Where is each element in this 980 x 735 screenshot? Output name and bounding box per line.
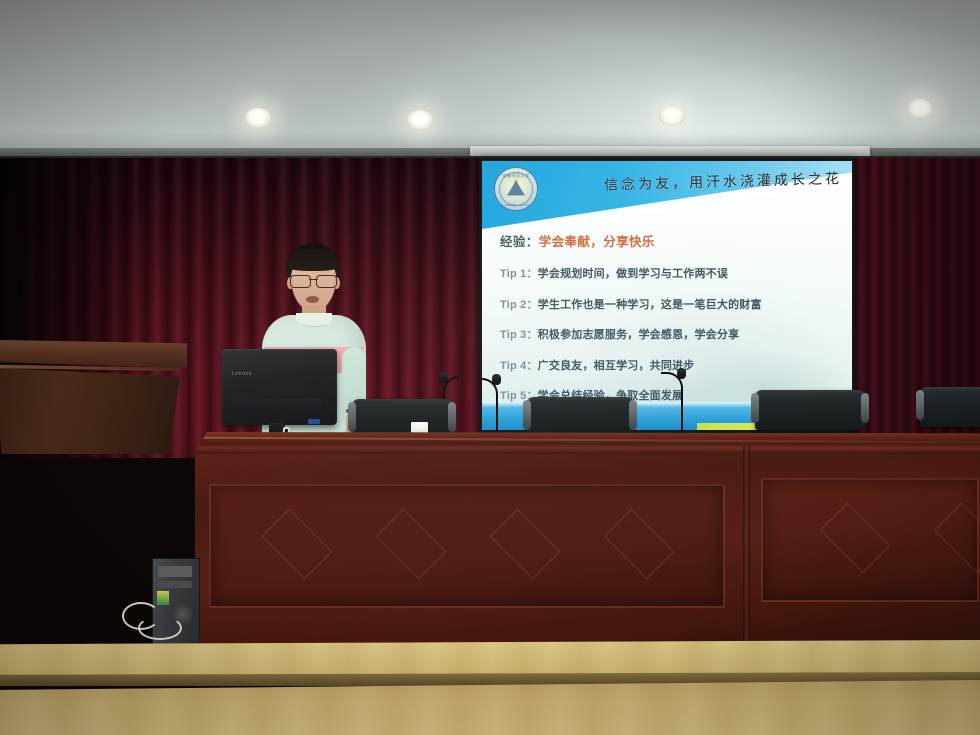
table-diamond-carving [820,503,890,573]
recessed-downlight [659,106,685,126]
table-panel [209,484,725,608]
table-diamond-carving [490,509,560,579]
conference-table [195,432,980,660]
recessed-downlight [245,108,271,128]
conference-chair[interactable] [755,390,865,430]
conference-chair[interactable] [527,397,633,437]
chair-arm-left [348,402,356,432]
slide-tip-4-label: Tip 4： [500,360,538,372]
slide-tip-2-label: Tip 2： [500,299,538,311]
recessed-downlight [407,110,433,130]
slide-tip-3-label: Tip 3： [500,329,538,341]
glasses-lens-right [316,275,337,288]
slide-tip-3-text: 积极参加志愿服务，学会感恩，学会分享 [538,329,740,341]
monitor-brand-label: Lenovo [232,371,252,377]
slide-tip-1: Tip 1：学会规划时间，做到学习与工作两不误 [500,265,840,281]
lecture-hall-scene: 安徽师范大学 ANHUI NORMAL UNIVERSITY 信念为友，用汗水浇… [0,0,980,735]
glasses-icon [290,275,337,287]
power-cable [138,616,182,640]
table-section-split [743,446,750,650]
chair-arm-right [448,402,456,432]
slide-experience-value: 学会奉献，分享快乐 [539,235,655,249]
slide-tip-2: Tip 2：学生工作也是一种学习，这是一笔巨大的财富 [500,296,840,312]
table-diamond-carving [376,509,446,579]
wooden-lectern [0,340,187,450]
lectern-top [0,340,187,368]
chair-arm-left [751,393,759,423]
tower-drive-bay [158,581,192,588]
lectern-front-panel [0,364,180,454]
monitor-back-panel: Lenovo [222,349,337,425]
slide-experience-key: 经验： [500,235,539,249]
slide-tip-1-label: Tip 1： [500,268,538,280]
university-seal-logo: 安徽师范大学 ANHUI NORMAL UNIVERSITY [494,167,538,211]
microphone-stalk [661,372,683,432]
gooseneck-microphone[interactable] [655,368,695,432]
stage-floor-lower [0,680,980,735]
slide-tip-1-text: 学会规划时间，做到学习与工作两不误 [538,268,728,280]
recessed-downlight [907,99,933,119]
table-panel [761,478,979,602]
table-diamond-carving [604,509,674,579]
slide-tip-2-text: 学生工作也是一种学习，这是一笔巨大的财富 [538,299,762,311]
chair-arm-right [629,400,637,430]
presenter-mouth [306,296,319,303]
gooseneck-microphone[interactable] [470,374,510,438]
chair-arm-left [523,400,531,430]
desktop-monitor[interactable]: Lenovo [222,349,337,443]
monitor-port [308,419,320,424]
table-top-lip [195,432,980,454]
conference-chair[interactable] [920,387,980,427]
tower-drive-bay [158,566,192,577]
monitor-vent [234,399,322,411]
ceiling [0,0,980,158]
slide-experience-line: 经验：学会奉献，分享快乐 [500,231,840,250]
microphone-stalk [478,378,498,436]
tower-sticker [157,591,169,605]
seal-mark [507,181,525,196]
presenter-collar [296,313,332,327]
slide-tip-3: Tip 3：积极参加志愿服务，学会感恩，学会分享 [500,326,840,342]
table-diamond-carving [262,509,332,579]
glasses-lens-left [290,275,311,288]
table-diamond-carving [934,503,980,573]
chair-arm-left [916,390,924,420]
chair-arm-right [861,393,869,423]
seal-bottom-text: ANHUI NORMAL UNIVERSITY [494,203,538,207]
